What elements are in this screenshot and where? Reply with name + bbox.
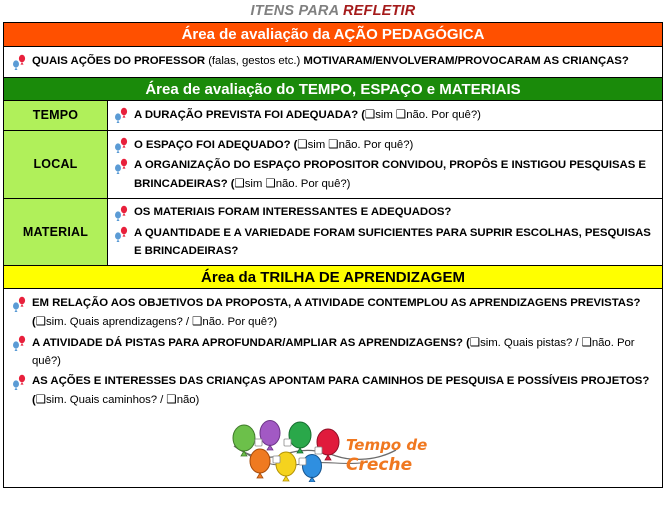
balloon-pair-icon (112, 107, 134, 124)
empty-checkbox-glyph[interactable]: ❑ (192, 314, 202, 328)
balloon-pair-icon (112, 137, 134, 154)
balloon-pair-icon (10, 374, 32, 391)
empty-checkbox-glyph[interactable]: ❑ (166, 392, 176, 406)
balloon-pair-icon (10, 54, 32, 71)
empty-checkbox-glyph[interactable]: ❑ (582, 335, 592, 349)
question-text: A QUANTIDADE E A VARIEDADE FORAM SUFICIE… (134, 225, 656, 260)
section-body-tempo-espaco-materiais: TEMPOA DURAÇÃO PREVISTA FOI ADEQUADA? (❑… (4, 101, 662, 265)
balloon-pair-icon (10, 296, 32, 313)
category-questions: O ESPAÇO FOI ADEQUADO? (❑sim ❑não. Por q… (108, 131, 662, 199)
question-text: A DURAÇÃO PREVISTA FOI ADEQUADA? (❑sim ❑… (134, 106, 656, 125)
balloon-pair-icon (112, 205, 134, 222)
empty-checkbox-glyph[interactable]: ❑ (36, 314, 46, 328)
empty-checkbox-glyph[interactable]: ❑ (470, 335, 480, 349)
empty-checkbox-glyph[interactable]: ❑ (396, 107, 406, 121)
question-text: EM RELAÇÃO AOS OBJETIVOS DA PROPOSTA, A … (32, 295, 654, 331)
category-row: LOCALO ESPAÇO FOI ADEQUADO? (❑sim ❑não. … (4, 131, 662, 200)
balloon-pair-icon (112, 158, 134, 175)
empty-checkbox-glyph[interactable]: ❑ (328, 137, 338, 151)
empty-checkbox-glyph[interactable]: ❑ (297, 137, 307, 151)
question-text: A ATIVIDADE DÁ PISTAS PARA APROFUNDAR/AM… (32, 334, 654, 370)
tempo-de-creche-logo: Tempo de Creche (228, 420, 438, 482)
category-questions: A DURAÇÃO PREVISTA FOI ADEQUADA? (❑sim ❑… (108, 101, 662, 130)
category-questions: OS MATERIAIS FORAM INTERESSANTES E ADEQU… (108, 199, 662, 265)
section-header-tempo-espaco-materiais: Área de avaliação do TEMPO, ESPAÇO e MAT… (4, 77, 662, 101)
balloon-pair-icon (112, 226, 134, 243)
page-title: ITENS PARA REFLETIR (0, 0, 666, 22)
question-row: A DURAÇÃO PREVISTA FOI ADEQUADA? (❑sim ❑… (112, 106, 656, 125)
question-row: AS AÇÕES E INTERESSES DAS CRIANÇAS APONT… (10, 373, 654, 409)
footer: Tempo de Creche (4, 415, 662, 487)
logo-text-line2: Creche (346, 455, 412, 475)
category-label-local: LOCAL (4, 131, 108, 199)
logo-text-line1: Tempo de (346, 436, 427, 454)
section-body-trilha-aprendizagem: EM RELAÇÃO AOS OBJETIVOS DA PROPOSTA, A … (4, 289, 662, 415)
question-text: O ESPAÇO FOI ADEQUADO? (❑sim ❑não. Por q… (134, 136, 656, 155)
question-row: O ESPAÇO FOI ADEQUADO? (❑sim ❑não. Por q… (112, 136, 656, 155)
worksheet-table: Área de avaliação da AÇÃO PEDAGÓGICA QUA… (3, 22, 663, 488)
section-header-acao-pedagogica: Área de avaliação da AÇÃO PEDAGÓGICA (4, 23, 662, 47)
category-label-material: MATERIAL (4, 199, 108, 265)
question-text: QUAIS AÇÕES DO PROFESSOR (falas, gestos … (32, 53, 654, 71)
question-text: AS AÇÕES E INTERESSES DAS CRIANÇAS APONT… (32, 373, 654, 409)
empty-checkbox-glyph[interactable]: ❑ (365, 107, 375, 121)
category-label-tempo: TEMPO (4, 101, 108, 130)
balloon-pair-icon (10, 335, 32, 352)
question-row: A QUANTIDADE E A VARIEDADE FORAM SUFICIE… (112, 225, 656, 260)
question-row: EM RELAÇÃO AOS OBJETIVOS DA PROPOSTA, A … (10, 295, 654, 331)
section-body-acao-pedagogica: QUAIS AÇÕES DO PROFESSOR (falas, gestos … (4, 47, 662, 77)
question-row: QUAIS AÇÕES DO PROFESSOR (falas, gestos … (10, 53, 654, 71)
question-text: OS MATERIAIS FORAM INTERESSANTES E ADEQU… (134, 204, 656, 222)
section-header-trilha-aprendizagem: Área da TRILHA DE APRENDIZAGEM (4, 265, 662, 289)
question-text: A ORGANIZAÇÃO DO ESPAÇO PROPOSITOR CONVI… (134, 157, 656, 193)
empty-checkbox-glyph[interactable]: ❑ (235, 176, 245, 190)
page-title-prefix: ITENS PARA (251, 3, 343, 19)
reflection-items-worksheet: ITENS PARA REFLETIR Área de avaliação da… (0, 0, 666, 524)
empty-checkbox-glyph[interactable]: ❑ (265, 176, 275, 190)
empty-checkbox-glyph[interactable]: ❑ (36, 392, 46, 406)
question-row: OS MATERIAIS FORAM INTERESSANTES E ADEQU… (112, 204, 656, 222)
question-row: A ATIVIDADE DÁ PISTAS PARA APROFUNDAR/AM… (10, 334, 654, 370)
category-row: MATERIALOS MATERIAIS FORAM INTERESSANTES… (4, 199, 662, 265)
page-title-highlight: REFLETIR (343, 3, 416, 19)
question-row: A ORGANIZAÇÃO DO ESPAÇO PROPOSITOR CONVI… (112, 157, 656, 193)
category-row: TEMPOA DURAÇÃO PREVISTA FOI ADEQUADA? (❑… (4, 101, 662, 131)
